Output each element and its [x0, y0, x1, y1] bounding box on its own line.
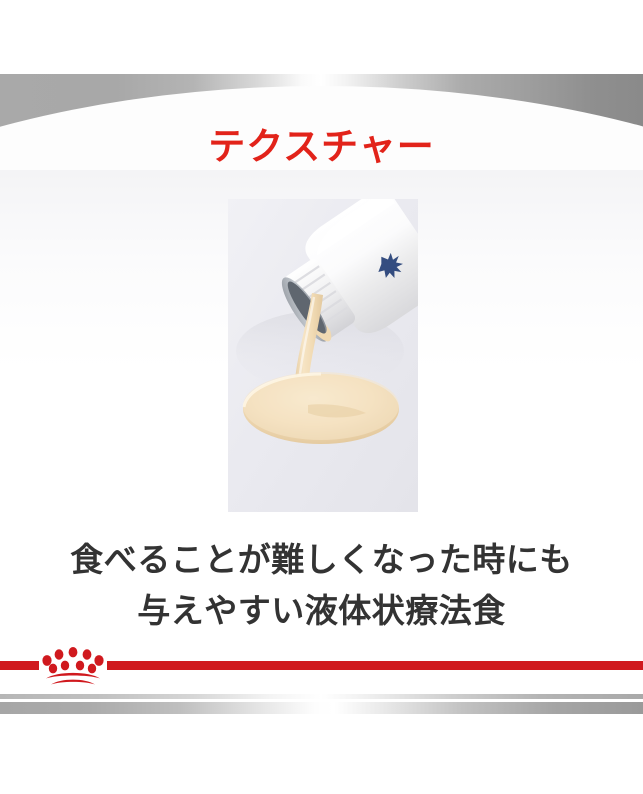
silver-gradient-band-thick — [0, 702, 643, 714]
page-title: テクスチャー — [0, 127, 643, 168]
royal-canin-crown-logo — [39, 645, 107, 687]
silver-gradient-band-thin — [0, 694, 643, 699]
pouring-bottle-illustration — [228, 199, 418, 512]
caption-line-2: 与えやすい液体状療法食 — [0, 585, 643, 636]
crown-icon — [39, 645, 107, 687]
slide-root: テクスチャー — [0, 0, 643, 794]
caption: 食べることが難しくなった時にも 与えやすい液体状療法食 — [0, 534, 643, 636]
caption-line-1: 食べることが難しくなった時にも — [0, 534, 643, 585]
product-photo — [228, 199, 418, 512]
